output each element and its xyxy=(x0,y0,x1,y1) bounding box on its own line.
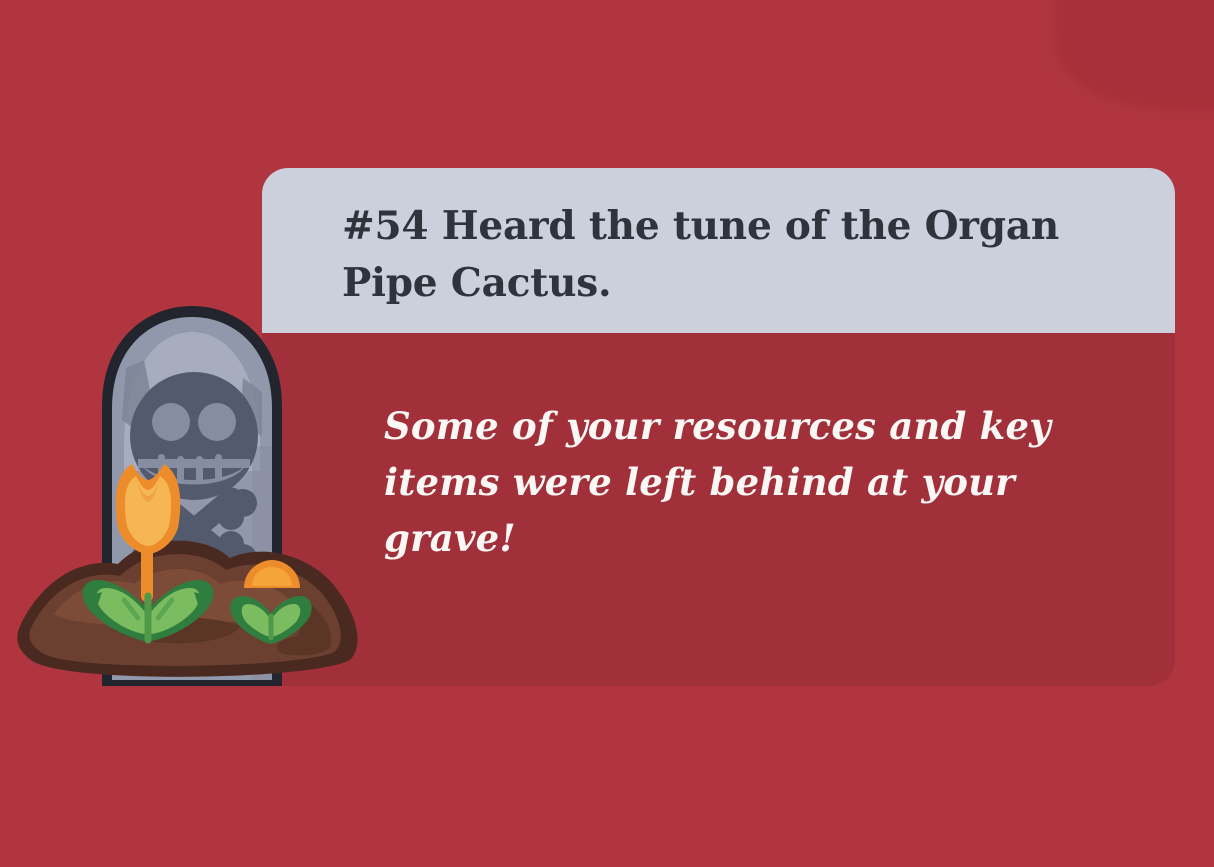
achievement-title: #54 Heard the tune of the Organ Pipe Cac… xyxy=(342,198,1131,311)
backdrop-corner-shadow xyxy=(1054,0,1214,110)
death-notification-card: #54 Heard the tune of the Organ Pipe Cac… xyxy=(262,168,1175,686)
death-message-text: Some of your resources and key items wer… xyxy=(384,398,1084,567)
card-header-banner: #54 Heard the tune of the Organ Pipe Cac… xyxy=(262,168,1175,333)
grave-illustration xyxy=(14,296,374,686)
